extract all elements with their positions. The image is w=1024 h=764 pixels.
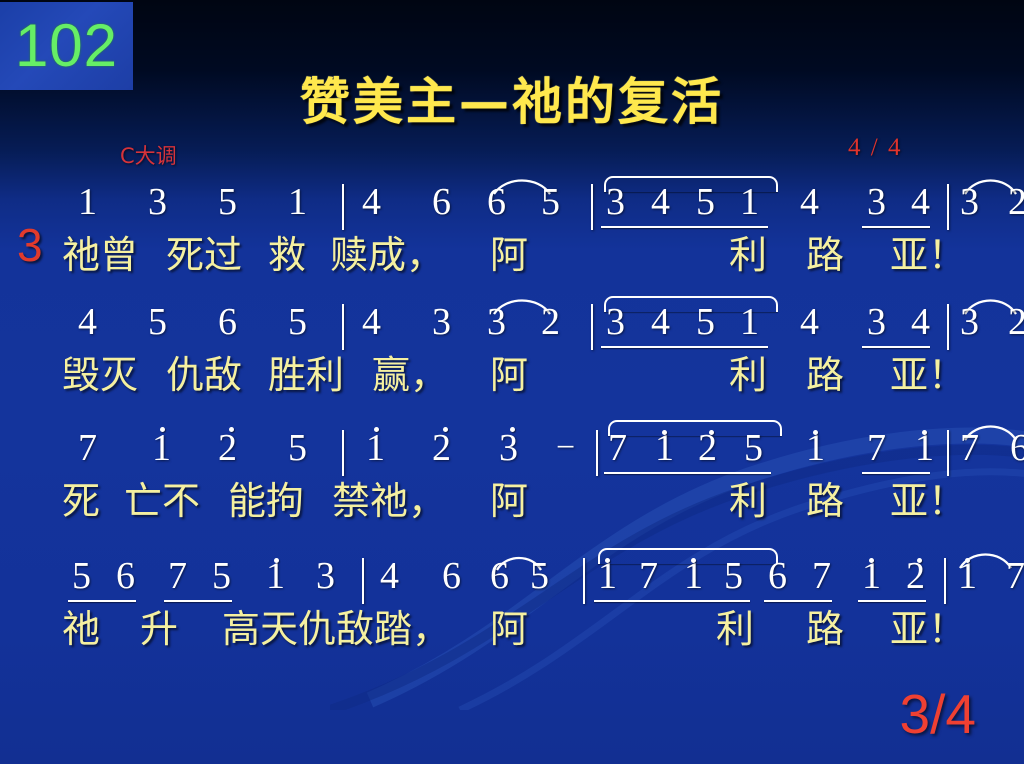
octave-dot-high (965, 558, 970, 563)
note-dash: − (556, 428, 575, 468)
octave-dot-high (229, 427, 234, 432)
note: 3 (432, 302, 451, 342)
lyric-segment: 升 (140, 608, 178, 650)
lyric-segment: 亚！ (890, 354, 966, 396)
note: 5 (724, 556, 743, 596)
note: 5 (288, 302, 307, 342)
lyric-segment: 能拘 (228, 480, 304, 522)
barline (342, 304, 344, 350)
lyric-row-2: 毁灭 仇敌 胜利 赢， 阿 利 路 亚！ (0, 354, 1024, 410)
beam (594, 600, 750, 602)
octave-dot-high (869, 558, 874, 563)
note: 7 (78, 428, 97, 468)
note: 2 (1008, 182, 1024, 222)
lyric-row-4: 祂 升 高天仇敌踏， 阿 利 路 亚！ (0, 608, 1024, 664)
note: 6 (116, 556, 135, 596)
octave-dot-high (709, 430, 714, 435)
note: 1 (288, 182, 307, 222)
barline (944, 558, 946, 604)
note: 3 (148, 182, 167, 222)
barline (947, 184, 949, 230)
notation-row-1: 1 3 5 1 4 6 6 5 3 4 5 1 4 3 4 (0, 182, 1024, 234)
note: 5 (530, 556, 549, 596)
score-line-2: 4 5 6 5 4 3 3 2 3 4 5 1 4 3 4 (0, 302, 1024, 410)
lyric-segment: 利 (716, 608, 754, 650)
hymn-slide: 102 赞美主—祂的复活 C大调 4 / 4 3 1 3 5 1 4 6 6 5… (0, 0, 1024, 764)
note: 1 (740, 182, 759, 222)
note: 1 (740, 302, 759, 342)
score-line-4: 5 6 7 5 1 3 4 6 6 5 1 7 1 (0, 556, 1024, 664)
lyric-segment: 死 (62, 480, 100, 522)
barline (591, 304, 593, 350)
note: 4 (911, 182, 930, 222)
lyric-segment: 利 (729, 480, 767, 522)
note: 5 (744, 428, 763, 468)
note: 3 (606, 182, 625, 222)
lyric-segment: 毁灭 (62, 354, 138, 396)
note: 7 (812, 556, 831, 596)
octave-dot-high (917, 558, 922, 563)
note: 3 (867, 182, 886, 222)
lyric-segment: 高天仇敌踏， (222, 608, 450, 650)
octave-dot-high (662, 430, 667, 435)
octave-dot-high (160, 427, 165, 432)
note: 5 (696, 302, 715, 342)
octave-dot-high (374, 427, 379, 432)
lyric-segment: 阿 (490, 234, 528, 276)
lyric-segment: 路 (806, 608, 844, 650)
note: 6 (1010, 428, 1024, 468)
note: 1 (78, 182, 97, 222)
octave-dot-high (274, 558, 279, 563)
note: 5 (72, 556, 91, 596)
note: 5 (541, 182, 560, 222)
beam (862, 472, 930, 474)
key-signature: C大调 (120, 140, 177, 170)
note: 4 (78, 302, 97, 342)
lyric-segment: 阿 (490, 608, 528, 650)
lyric-segment: 仇敌 (166, 354, 242, 396)
barline (591, 184, 593, 230)
note: 5 (288, 428, 307, 468)
octave-dot-high (813, 430, 818, 435)
note: 5 (696, 182, 715, 222)
note: 1 (152, 428, 171, 468)
note: 7 (168, 556, 187, 596)
note: 4 (800, 182, 819, 222)
note: 2 (698, 428, 717, 468)
note: 2 (432, 428, 451, 468)
note: 4 (800, 302, 819, 342)
note: 2 (218, 428, 237, 468)
note: 6 (768, 556, 787, 596)
octave-dot-high (922, 430, 927, 435)
octave-dot-high (691, 558, 696, 563)
beam (68, 600, 136, 602)
barline (583, 558, 585, 604)
time-signature: 4 / 4 (848, 134, 902, 162)
note: 2 (1008, 302, 1024, 342)
lyric-segment: 赢， (372, 354, 448, 396)
lyric-segment: 阿 (490, 480, 528, 522)
beam (862, 226, 930, 228)
note: 4 (651, 302, 670, 342)
notation-row-4: 5 6 7 5 1 3 4 6 6 5 1 7 1 (0, 556, 1024, 608)
lyric-segment: 亚！ (890, 234, 966, 276)
note: 4 (911, 302, 930, 342)
lyric-segment: 救 (268, 234, 306, 276)
note: 4 (651, 182, 670, 222)
lyric-segment: 祂曾 (62, 234, 138, 276)
note: 4 (362, 302, 381, 342)
note: 5 (212, 556, 231, 596)
lyric-segment: 利 (729, 234, 767, 276)
note: 3 (606, 302, 625, 342)
note: 1 (366, 428, 385, 468)
lyric-segment: 祂 (62, 608, 100, 650)
beam (862, 346, 930, 348)
lyric-segment: 胜利 (268, 354, 344, 396)
score-line-1: 1 3 5 1 4 6 6 5 3 4 5 1 4 3 4 (0, 182, 1024, 290)
octave-dot-high (510, 427, 515, 432)
note: 6 (218, 302, 237, 342)
beam (764, 600, 832, 602)
lyric-segment: 阿 (490, 354, 528, 396)
barline (947, 430, 949, 476)
note: 7 (639, 556, 658, 596)
barline (947, 304, 949, 350)
barline (342, 430, 344, 476)
lyric-segment: 赎成， (330, 234, 444, 276)
lyric-segment: 路 (806, 354, 844, 396)
beam (601, 346, 768, 348)
lyric-segment: 亡不 (124, 480, 200, 522)
note: 3 (960, 182, 979, 222)
note: 7 (608, 428, 627, 468)
lyric-segment: 路 (806, 234, 844, 276)
beam (604, 472, 771, 474)
note: 3 (960, 302, 979, 342)
lyric-segment: 亚！ (890, 480, 966, 522)
lyric-row-1: 祂曾 死过 救 赎成， 阿 利 路 亚！ (0, 234, 1024, 290)
lyric-segment: 利 (729, 354, 767, 396)
score-line-3: 7 1 2 5 1 2 3 − 7 1 2 5 1 7 1 (0, 428, 1024, 536)
lyric-segment: 亚！ (890, 608, 966, 650)
note: 6 (432, 182, 451, 222)
note: 3 (316, 556, 335, 596)
note: 4 (362, 182, 381, 222)
note: 2 (541, 302, 560, 342)
octave-dot-high (443, 427, 448, 432)
lyric-segment: 路 (806, 480, 844, 522)
octave-dot-high (605, 558, 610, 563)
beam (601, 226, 768, 228)
note: 5 (148, 302, 167, 342)
beam (858, 600, 926, 602)
note: 7 (1006, 556, 1024, 596)
note: 3 (499, 428, 518, 468)
notation-row-2: 4 5 6 5 4 3 3 2 3 4 5 1 4 3 4 (0, 302, 1024, 354)
note: 4 (380, 556, 399, 596)
note: 7 (867, 428, 886, 468)
barline (362, 558, 364, 604)
note: 2 (906, 556, 925, 596)
beam (164, 600, 232, 602)
barline (342, 184, 344, 230)
lyric-segment: 禁祂， (332, 480, 446, 522)
barline (596, 430, 598, 476)
page-indicator: 3/4 (900, 687, 976, 742)
notation-row-3: 7 1 2 5 1 2 3 − 7 1 2 5 1 7 1 (0, 428, 1024, 480)
note: 7 (960, 428, 979, 468)
note: 6 (442, 556, 461, 596)
lyric-row-3: 死 亡不 能拘 禁祂， 阿 利 路 亚！ (0, 480, 1024, 536)
note: 3 (867, 302, 886, 342)
note: 5 (218, 182, 237, 222)
lyric-segment: 死过 (166, 234, 242, 276)
page-title: 赞美主—祂的复活 (0, 62, 1024, 134)
